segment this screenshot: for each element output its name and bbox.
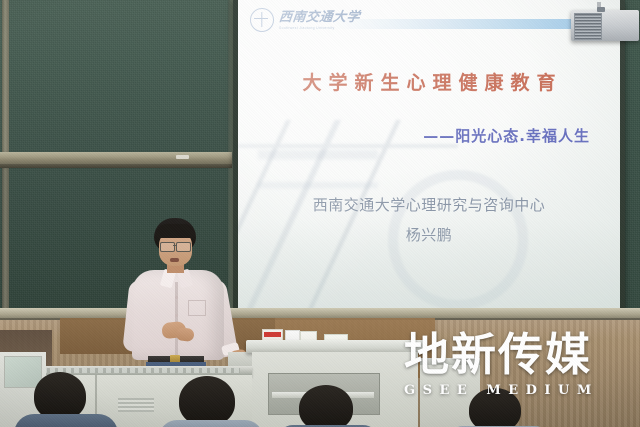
audience-head [34,372,86,420]
lecturer-shirt-placket [175,282,178,358]
chalkboard-frame-left-lower [2,160,9,308]
slide-title: 大学新生心理健康教育 [238,68,620,95]
lecturer-mouth [170,258,179,262]
audience-member [163,376,255,427]
university-logo-name-en: Southwest Jiaotong University [279,26,360,30]
university-logo-name-cn: 西南交通大学 [278,11,360,24]
slide-subtitle: ——阳光心态.幸福人生 [238,125,620,146]
glasses-bridge-icon [173,245,176,246]
glasses-lens-right-icon [176,242,191,252]
lecturer-hair-front [156,224,195,238]
chalk-piece [176,155,189,159]
university-logo: 西南交通大学 Southwest Jiaotong University [250,8,360,32]
audience-member [455,388,541,427]
glasses-lens-left-icon [160,242,175,252]
projector-vents [574,13,602,40]
audience-head [469,388,521,427]
lecturer-shirt-pocket [188,300,206,316]
lecturer-shirt-button [175,296,178,299]
chalk-ledge-lip [0,164,232,168]
projection-screen: 西南交通大学 Southwest Jiaotong University 大学新… [238,0,620,313]
audience-shoulders [159,420,263,427]
audience-head [179,376,235,426]
audience-head [299,385,353,427]
photo-scene: 西南交通大学 Southwest Jiaotong University 大学新… [0,0,640,427]
audience-member [20,372,110,427]
university-shield-icon [250,8,274,32]
lecturer-shirt [132,270,224,360]
projector-lens [597,7,605,12]
lecturer-shirt-button [175,314,178,317]
front-bench-vent [118,398,154,412]
audience-member [283,385,371,427]
audience-shoulders [14,414,118,427]
slide-organization: 西南交通大学心理研究与咨询中心 [238,194,620,215]
chalkboard-frame-left [2,0,9,160]
slide-presenter: 杨兴鹏 [238,224,620,245]
